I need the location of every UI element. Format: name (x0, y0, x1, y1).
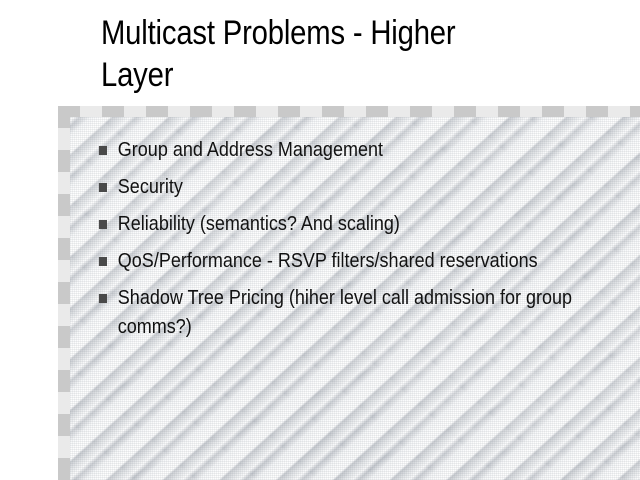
list-item-label: Shadow Tree Pricing (hiher level call ad… (118, 284, 586, 342)
square-bullet-icon (99, 146, 107, 155)
list-item-label: QoS/Performance - RSVP filters/shared re… (118, 247, 586, 276)
list-item: Shadow Tree Pricing (hiher level call ad… (98, 284, 586, 342)
square-bullet-icon (99, 294, 107, 303)
list-item: Reliability (semantics? And scaling) (98, 210, 586, 239)
slide-title: Multicast Problems - Higher Layer (101, 12, 505, 96)
list-item: QoS/Performance - RSVP filters/shared re… (98, 247, 586, 276)
square-bullet-icon (99, 183, 107, 192)
list-item-label: Reliability (semantics? And scaling) (118, 210, 586, 239)
panel-top-border-strip (58, 106, 640, 117)
list-item: Security (98, 173, 586, 202)
list-item-label: Group and Address Management (118, 136, 586, 165)
bullet-list: Group and Address Management Security Re… (98, 136, 568, 350)
presentation-slide: Multicast Problems - Higher Layer Group … (0, 0, 640, 480)
square-bullet-icon (99, 257, 107, 266)
panel-left-border-strip (58, 106, 70, 480)
list-item: Group and Address Management (98, 136, 586, 165)
square-bullet-icon (99, 220, 107, 229)
list-item-label: Security (118, 173, 586, 202)
